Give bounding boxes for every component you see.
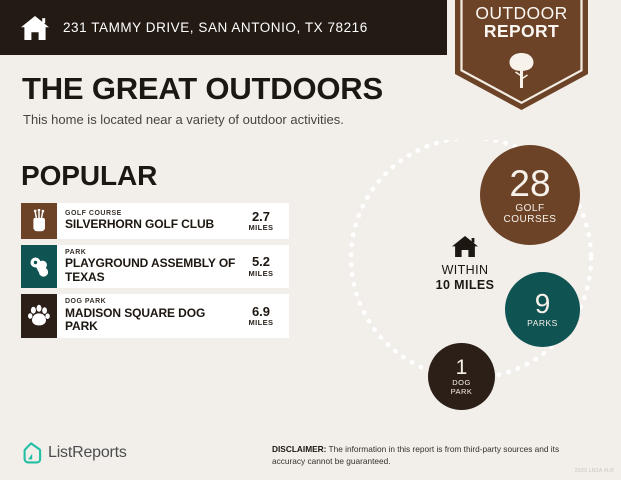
stat-count: 1 xyxy=(456,357,468,378)
listreports-logo[interactable]: ListReports xyxy=(20,441,127,465)
list-item[interactable]: GOLF COURSE SILVERHORN GOLF CLUB 2.7 MIL… xyxy=(21,203,289,239)
stat-label-line-1: GOLF xyxy=(515,203,544,214)
stat-count: 28 xyxy=(509,165,550,202)
distance-value: 2.7 xyxy=(252,210,270,224)
home-icon xyxy=(451,235,479,258)
paw-print-icon xyxy=(21,294,57,337)
list-item-text: DOG PARK MADISON SQUARE DOG PARK xyxy=(57,294,237,337)
stat-label: GOLF COURSES xyxy=(504,204,557,226)
page-title: THE GREAT OUTDOORS xyxy=(22,71,383,107)
page-subtitle: This home is located near a variety of o… xyxy=(23,112,344,127)
disclaimer-label: DISCLAIMER: xyxy=(272,444,326,454)
within-line-1: WITHIN xyxy=(410,263,520,278)
listreports-house-icon xyxy=(20,441,42,465)
stat-label-line-2: COURSES xyxy=(504,214,557,225)
distance-unit: MILES xyxy=(249,269,274,278)
disclaimer: DISCLAIMER: The information in this repo… xyxy=(272,443,592,467)
distance-unit: MILES xyxy=(249,223,274,232)
stat-count: 9 xyxy=(535,290,551,318)
stat-label-line-2: PARK xyxy=(451,387,473,396)
stat-circle-dog-park[interactable]: 1 DOG PARK xyxy=(428,343,495,410)
property-address: 231 TAMMY DRIVE, SAN ANTONIO, TX 78216 xyxy=(63,20,368,35)
summary-infographic: WITHIN 10 MILES 28 GOLF COURSES 9 PARKS … xyxy=(330,140,621,425)
logo-text: ListReports xyxy=(48,444,127,462)
list-item-name: PLAYGROUND ASSEMBLY OF TEXAS xyxy=(65,257,237,284)
stat-circle-golf-courses[interactable]: 28 GOLF COURSES xyxy=(480,145,580,245)
distance-value: 6.9 xyxy=(252,305,270,319)
list-item[interactable]: DOG PARK MADISON SQUARE DOG PARK 6.9 MIL… xyxy=(21,294,289,337)
badge-shield-shape xyxy=(455,0,588,110)
header-bar: 231 TAMMY DRIVE, SAN ANTONIO, TX 78216 xyxy=(0,0,447,55)
tree-park-icon xyxy=(21,245,57,288)
popular-heading: POPULAR xyxy=(21,160,157,192)
stat-circle-parks[interactable]: 9 PARKS xyxy=(505,272,580,347)
list-item-distance: 2.7 MILES xyxy=(237,203,289,239)
outdoor-report-badge: OUTDOOR REPORT xyxy=(455,0,588,110)
list-item-name: MADISON SQUARE DOG PARK xyxy=(65,307,237,334)
list-item-distance: 5.2 MILES xyxy=(237,245,289,288)
distance-unit: MILES xyxy=(249,318,274,327)
outdoor-report-page: 231 TAMMY DRIVE, SAN ANTONIO, TX 78216 O… xyxy=(0,0,621,480)
list-item-distance: 6.9 MILES xyxy=(237,294,289,337)
list-item-text: GOLF COURSE SILVERHORN GOLF CLUB xyxy=(57,203,237,239)
list-item-text: PARK PLAYGROUND ASSEMBLY OF TEXAS xyxy=(57,245,237,288)
distance-value: 5.2 xyxy=(252,255,270,269)
list-item-name: SILVERHORN GOLF CLUB xyxy=(65,218,237,231)
popular-list: GOLF COURSE SILVERHORN GOLF CLUB 2.7 MIL… xyxy=(21,203,289,344)
within-radius-label: WITHIN 10 MILES xyxy=(410,235,520,293)
within-line-2: 10 MILES xyxy=(410,278,520,293)
home-icon xyxy=(20,15,50,41)
stat-label: DOG PARK xyxy=(451,379,473,395)
list-item[interactable]: PARK PLAYGROUND ASSEMBLY OF TEXAS 5.2 MI… xyxy=(21,245,289,288)
fineprint: 2023 LR2A #LR xyxy=(575,468,614,474)
golf-bag-icon xyxy=(21,203,57,239)
stat-label: PARKS xyxy=(527,319,558,328)
